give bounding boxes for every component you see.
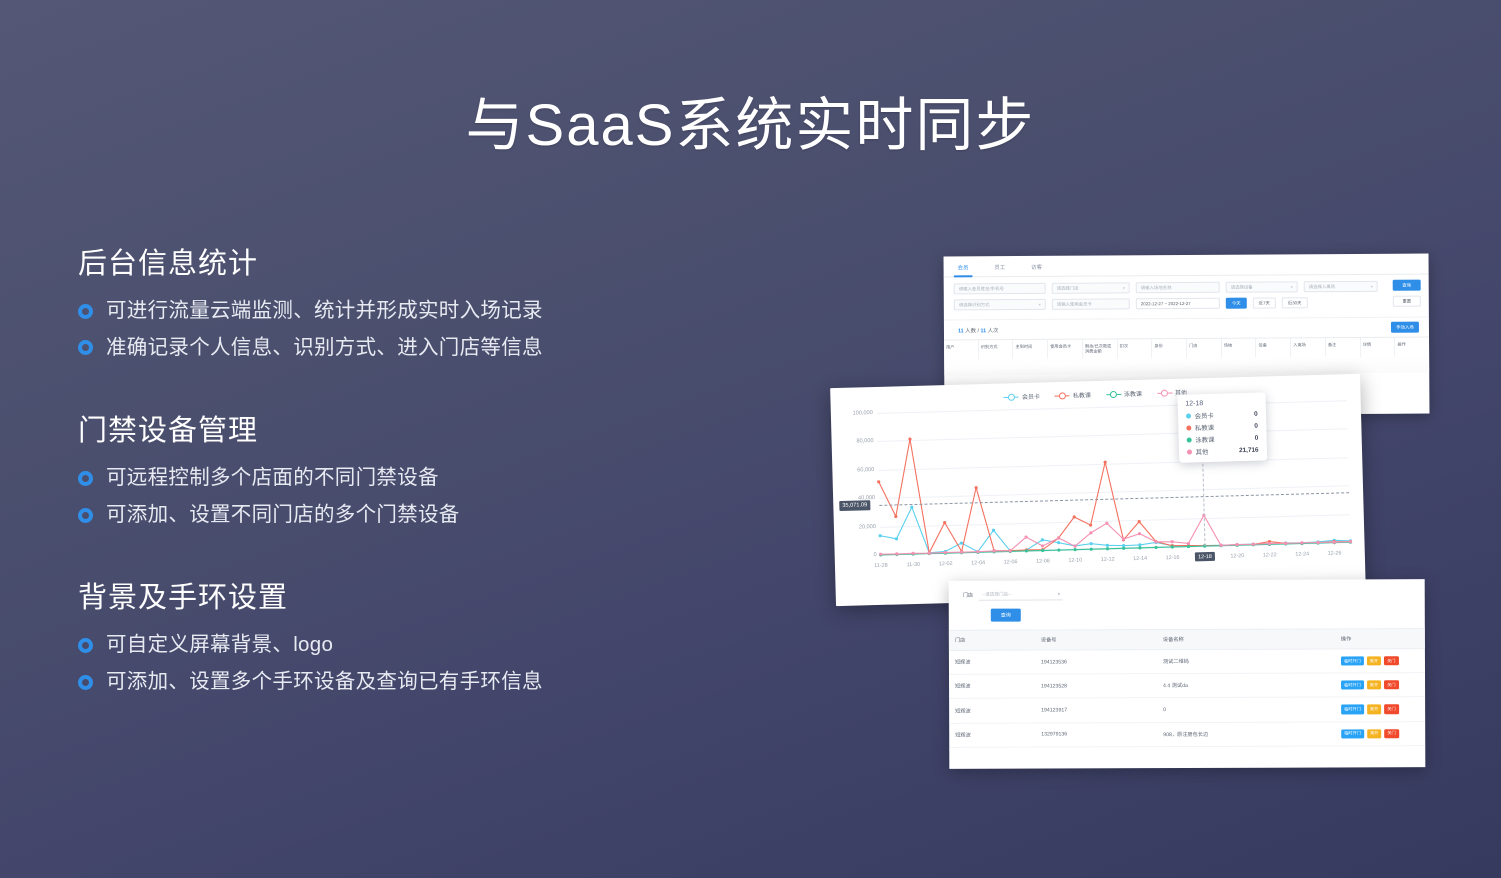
th-device-name: 设备名称	[1157, 629, 1335, 649]
screenshot-stack: 会员 员工 访客 请输入会员姓名/手机号 请选择门店 ▾ 请输入场地名称 请选择…	[833, 250, 1433, 770]
feature-bullet-label: 可自定义屏幕背景、logo	[106, 633, 333, 658]
feature-bullet: 可远程控制多个店面的不同门禁设备	[78, 466, 778, 491]
legend-label: 私教课	[1073, 390, 1091, 399]
cell-store: 短辉波	[949, 676, 1035, 697]
chart-tooltip-row: 会员卡0	[1185, 409, 1257, 420]
legend-marker-icon	[1106, 390, 1121, 397]
chart-point	[1104, 461, 1107, 464]
chart-point	[974, 486, 977, 489]
member-name-input[interactable]: 请输入会员姓名/手机号	[954, 283, 1046, 295]
chart-tooltip-series-name: 泳教课	[1195, 433, 1255, 444]
th-identity: 身份	[1152, 339, 1187, 358]
temp-open-button[interactable]: 临时开门	[1341, 681, 1364, 690]
device-table-header: 门店 设备号 设备名称 操作	[949, 628, 1425, 651]
table-row[interactable]: 短辉波 194123917 0 临时开门 常开 关门	[949, 698, 1425, 724]
feature-heading: 门禁设备管理	[78, 407, 778, 449]
device-list-window: 门店 --请选择门店-- ▾ 查询 门店 设备号 设备名称 操作 短辉波 194…	[949, 579, 1426, 769]
chart-point	[879, 534, 882, 537]
chart-point	[1073, 548, 1076, 551]
entry-exit-select[interactable]: 请选择入离场 ▾	[1304, 281, 1378, 292]
chart-tooltip-color-icon	[1186, 437, 1191, 442]
legend-item-swim-training[interactable]: 泳教课	[1106, 389, 1142, 399]
people-count-value: 11	[958, 328, 964, 334]
chart-tooltip-series-value: 0	[1255, 434, 1259, 441]
feature-bullet: 可进行流量云端监测、统计并形成实时入场记录	[78, 299, 778, 324]
bullet-ring-icon	[78, 304, 93, 319]
chart-point	[1154, 546, 1157, 549]
feature-list: 后台信息统计 可进行流量云端监测、统计并形成实时入场记录 准确记录个人信息、识别…	[78, 240, 778, 695]
bullet-ring-icon	[78, 675, 93, 690]
table-row[interactable]: 短辉波 194123528 4.4 测试da 临时开门 常开 关门	[949, 673, 1425, 699]
chart-point	[1122, 547, 1125, 550]
chevron-down-icon: ▾	[1371, 284, 1373, 289]
device-store-select[interactable]: --请选择门店-- ▾	[979, 589, 1063, 600]
chevron-down-icon: ▾	[1058, 591, 1060, 597]
cell-device-name: 测试二维码	[1157, 651, 1335, 673]
venue-name-input[interactable]: 请输入场地名称	[1136, 282, 1220, 294]
temp-open-button[interactable]: 临时开门	[1341, 705, 1364, 714]
device-select-label: 请选择设备	[1231, 284, 1253, 290]
range-30days-chip[interactable]: 近30天	[1282, 297, 1308, 308]
temp-open-button[interactable]: 临时开门	[1341, 656, 1364, 665]
th-deduct: 扣次	[1118, 339, 1153, 358]
chart-line-私教课	[878, 427, 1351, 554]
revenue-chart-window: 会员卡 私教课 泳教课 其他 020,00040,00060,00080,000…	[830, 374, 1366, 606]
reset-button[interactable]: 重置	[1393, 296, 1421, 307]
th-entry-exit: 入离场	[1291, 338, 1326, 357]
cell-operations: 临时开门 常开 关门	[1335, 722, 1425, 746]
cell-device-name: 0	[1157, 699, 1335, 720]
close-door-button[interactable]: 关门	[1384, 656, 1398, 665]
cell-device-id: 194123536	[1035, 652, 1157, 672]
store-select-label: 请选择门店	[1057, 285, 1079, 291]
th-detail: 详情	[1361, 338, 1396, 357]
chart-point	[1057, 548, 1060, 551]
member-counts: 11 人数 / 11 人次	[958, 326, 999, 334]
cell-device-name: 4.4 测试da	[1157, 675, 1335, 697]
recognition-method-label: 请选择识别方式	[959, 302, 990, 308]
feature-bullet: 可添加、设置多个手环设备及查询已有手环信息	[78, 670, 778, 695]
feature-bullet-label: 可远程控制多个店面的不同门禁设备	[106, 466, 439, 491]
chart-series-svg	[841, 396, 1355, 570]
chart-point	[1106, 547, 1109, 550]
chart-tooltip-date: 12-18	[1185, 398, 1257, 407]
feature-bullet: 准确记录个人信息、识别方式、进入门店等信息	[78, 336, 778, 361]
chart-tooltip-series-value: 21,716	[1239, 446, 1259, 454]
legend-label: 泳教课	[1124, 389, 1142, 398]
legend-marker-icon	[1157, 389, 1172, 396]
store-select[interactable]: 请选择门店 ▾	[1052, 282, 1130, 293]
legend-marker-icon	[1004, 393, 1019, 400]
chart-point	[1106, 544, 1109, 547]
member-table-body-placeholder	[944, 356, 1429, 375]
tab-visitors[interactable]: 访客	[1031, 263, 1042, 276]
chart-tooltip-color-icon	[1186, 413, 1191, 418]
always-open-button[interactable]: 常开	[1367, 656, 1381, 665]
th-store: 门店	[1187, 339, 1222, 358]
close-door-button[interactable]: 关门	[1384, 705, 1398, 714]
table-row[interactable]: 短辉波 194123536 测试二维码 临时开门 常开 关门	[949, 649, 1425, 675]
chart-point	[908, 437, 911, 440]
th-amount: 剩余/已次数或消费金额	[1083, 339, 1118, 358]
th-store: 门店	[949, 631, 1035, 650]
page-title: 与SaaS系统实时同步	[0, 78, 1501, 162]
chart-tooltip-series-value: 0	[1254, 410, 1258, 417]
member-table-header: 用户 识别方式 主到时间 使用会员卡 剩余/已次数或消费金额 扣次 身份 门店 …	[944, 337, 1429, 359]
legend-item-personal-training[interactable]: 私教课	[1055, 390, 1091, 400]
th-operation: 操作	[1335, 629, 1425, 648]
cell-device-id: 132979136	[1035, 724, 1157, 744]
chart-point	[1138, 543, 1141, 546]
feature-heading: 背景及手环设置	[78, 574, 778, 616]
feature-block-access-control: 门禁设备管理 可远程控制多个店面的不同门禁设备 可添加、设置不同门店的多个门禁设…	[78, 407, 778, 527]
chart-tooltip-color-icon	[1186, 425, 1191, 430]
legend-label: 会员卡	[1022, 392, 1040, 401]
chart-tooltip-row: 私教课0	[1186, 421, 1258, 432]
filter-row-1: 请输入会员姓名/手机号 请选择门店 ▾ 请输入场地名称 请选择设备 ▾ 请选择入…	[954, 281, 1419, 295]
feature-bullet: 可自定义屏幕背景、logo	[78, 633, 778, 658]
chart-tooltip: 12-18会员卡0私教课0泳教课0其他21,716	[1177, 392, 1267, 462]
chart-markline-label: 35,071.09	[839, 500, 870, 511]
cell-device-name: 908，原注册包长边	[1157, 723, 1335, 745]
feature-heading: 后台信息统计	[78, 240, 778, 282]
range-today-chip[interactable]: 今天	[1226, 298, 1247, 309]
th-card: 使用会员卡	[1048, 340, 1083, 359]
chart-tooltip-series-name: 其他	[1195, 446, 1239, 456]
th-user: 用户	[944, 340, 979, 359]
device-store-select-value: --请选择门店--	[982, 592, 1011, 598]
chart-tooltip-series-value: 0	[1254, 422, 1258, 429]
temp-open-button[interactable]: 临时开门	[1341, 729, 1364, 738]
bullet-ring-icon	[78, 340, 93, 355]
chart-tooltip-row: 泳教课0	[1186, 433, 1258, 444]
feature-bullet-label: 可进行流量云端监测、统计并形成实时入场记录	[106, 299, 543, 324]
cell-store: 短辉波	[949, 652, 1035, 673]
visit-count-value: 11	[980, 328, 986, 334]
always-open-button[interactable]: 常开	[1367, 729, 1381, 738]
visit-count-unit: 人次	[988, 328, 999, 334]
bullet-ring-icon	[78, 508, 93, 523]
member-filter-bar: 请输入会员姓名/手机号 请选择门店 ▾ 请输入场地名称 请选择设备 ▾ 请选择入…	[944, 275, 1429, 320]
th-recognition: 识别方式	[979, 340, 1014, 359]
cell-operations: 临时开门 常开 关门	[1335, 649, 1425, 673]
always-open-button[interactable]: 常开	[1367, 681, 1381, 690]
cell-operations: 临时开门 常开 关门	[1335, 673, 1425, 697]
chart-tooltip-series-name: 会员卡	[1194, 409, 1254, 420]
feature-bullet: 可添加、设置不同门店的多个门禁设备	[78, 503, 778, 528]
cell-device-id: 194123528	[1035, 676, 1157, 696]
chart-tooltip-color-icon	[1187, 449, 1192, 454]
device-query-row: 查询	[991, 607, 1425, 622]
chart-point	[1089, 542, 1092, 545]
legend-marker-icon	[1055, 392, 1070, 399]
always-open-button[interactable]: 常开	[1367, 705, 1381, 714]
close-door-button[interactable]: 关门	[1384, 729, 1398, 738]
tab-members[interactable]: 会员	[958, 263, 969, 276]
device-select[interactable]: 请选择设备 ▾	[1226, 281, 1298, 292]
chart-point	[1057, 541, 1060, 544]
chevron-down-icon: ▾	[1123, 285, 1125, 290]
member-tabs: 会员 员工 访客	[944, 254, 1429, 278]
chart-point	[1171, 540, 1174, 543]
tab-staff[interactable]: 员工	[994, 263, 1005, 276]
feature-bullet-label: 可添加、设置多个手环设备及查询已有手环信息	[106, 670, 543, 695]
bullet-ring-icon	[78, 471, 93, 486]
th-remark: 备注	[1326, 338, 1361, 357]
table-row[interactable]: 短辉波 132979136 908，原注册包长边 临时开门 常开 关门	[949, 722, 1425, 748]
cell-store: 短辉波	[949, 700, 1035, 721]
chart-tooltip-row: 其他21,716	[1186, 445, 1258, 456]
feature-bullet-label: 准确记录个人信息、识别方式、进入门店等信息	[106, 336, 543, 361]
manual-entry-button[interactable]: 手动入场	[1391, 322, 1419, 333]
chevron-down-icon: ▾	[1291, 284, 1293, 289]
filter-row-2: 请选择识别方式 ▾ 请输入使用会员卡 2022-12-27 ~ 2022-12-…	[954, 297, 1419, 311]
device-query-button[interactable]: 查询	[991, 609, 1021, 622]
th-venue: 场地	[1222, 339, 1257, 358]
membership-card-input[interactable]: 请输入使用会员卡	[1052, 298, 1130, 309]
range-7days-chip[interactable]: 近7天	[1253, 297, 1276, 308]
query-button[interactable]: 查询	[1393, 280, 1421, 291]
chart-plot-area[interactable]: 020,00040,00060,00080,000100,00011-2811-…	[841, 396, 1355, 570]
recognition-method-select[interactable]: 请选择识别方式 ▾	[954, 299, 1046, 311]
chart-point	[1090, 548, 1093, 551]
th-device: 设备	[1256, 338, 1291, 357]
th-time: 主到时间	[1013, 340, 1048, 359]
device-filter-bar: 门店 --请选择门店-- ▾	[949, 579, 1425, 603]
close-door-button[interactable]: 关门	[1384, 680, 1398, 689]
legend-item-membership-card[interactable]: 会员卡	[1004, 392, 1040, 402]
device-store-filter-label: 门店	[963, 592, 973, 599]
people-count-unit: 人数 /	[965, 328, 979, 334]
th-device-id: 设备号	[1035, 630, 1157, 649]
feature-bullet-label: 可添加、设置不同门店的多个门禁设备	[106, 503, 460, 528]
entry-exit-select-label: 请选择入离场	[1309, 284, 1335, 290]
chart-tooltip-series-name: 私教课	[1195, 421, 1255, 432]
feature-block-statistics: 后台信息统计 可进行流量云端监测、统计并形成实时入场记录 准确记录个人信息、识别…	[78, 240, 778, 360]
th-action: 操作	[1395, 338, 1429, 357]
chart-point	[1138, 546, 1141, 549]
feature-block-background-wristband: 背景及手环设置 可自定义屏幕背景、logo 可添加、设置多个手环设备及查询已有手…	[78, 574, 778, 694]
cell-store: 短辉波	[949, 724, 1035, 745]
cell-operations: 临时开门 常开 关门	[1335, 698, 1425, 722]
member-action-buttons: 查询 重置	[1393, 280, 1421, 307]
date-range-picker[interactable]: 2022-12-27 ~ 2022-12-27	[1136, 298, 1220, 310]
bullet-ring-icon	[78, 638, 93, 653]
chevron-down-icon: ▾	[1039, 302, 1041, 307]
cell-device-id: 194123917	[1035, 700, 1157, 720]
